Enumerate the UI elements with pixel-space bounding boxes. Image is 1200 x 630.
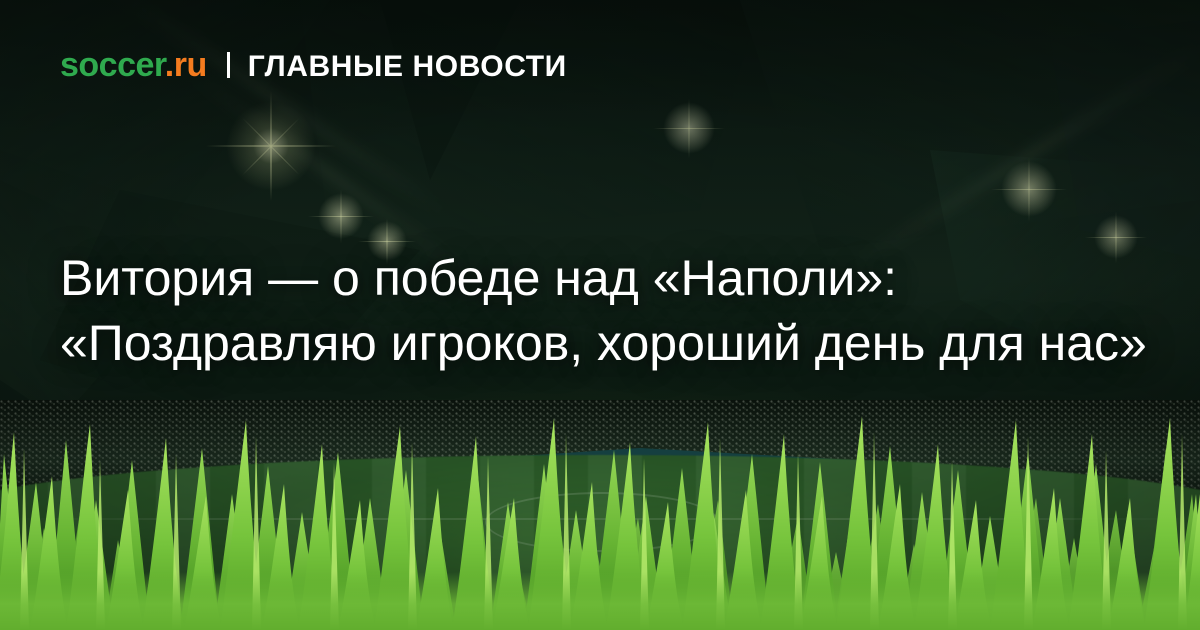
logo-text-primary: soccer	[60, 46, 165, 84]
page-title: Витория — о победе над «Наполи»: «Поздра…	[60, 246, 1170, 376]
logo-text-suffix: .ru	[165, 46, 207, 84]
grass-foreground	[0, 390, 1200, 630]
header: soccer.ru ГЛАВНЫЕ НОВОСТИ	[60, 48, 567, 82]
social-share-card: soccer.ru ГЛАВНЫЕ НОВОСТИ Витория — о по…	[0, 0, 1200, 630]
header-kicker: ГЛАВНЫЕ НОВОСТИ	[248, 52, 567, 82]
header-divider	[227, 52, 230, 78]
site-logo[interactable]: soccer.ru	[60, 48, 207, 82]
